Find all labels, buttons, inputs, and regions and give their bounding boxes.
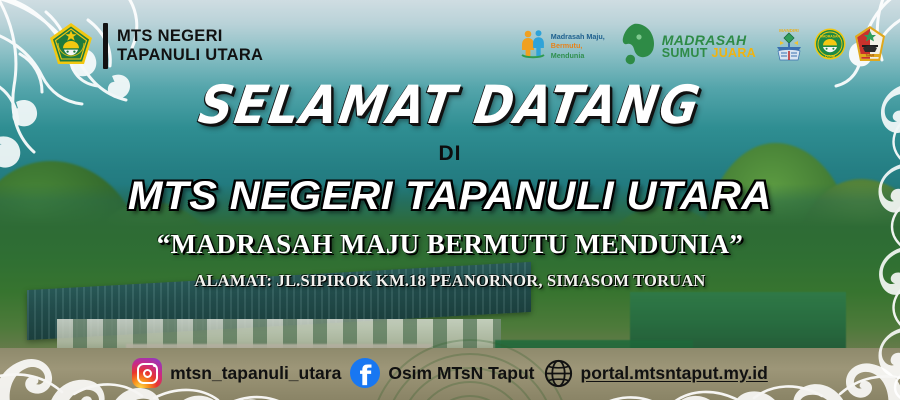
sumatera-utara-map-icon [621, 22, 657, 71]
brand-title-line1: MTS NEGERI [117, 27, 263, 46]
di-word: DI [0, 142, 900, 166]
svg-text:TAPUT: TAPUT [866, 53, 875, 57]
school-address: ALAMAT: JL.SIPIROK KM.18 PEANORNOR, SIMA… [0, 271, 900, 291]
madrasah-maju-logo: Madrasah Maju, Bermutu, Mendunia [520, 29, 605, 64]
social-media-row: mtsn_tapanuli_utara f Osim MTsN Taput po… [0, 358, 900, 388]
madrasah-maju-text: Madrasah Maju, Bermutu, Mendunia [551, 32, 605, 61]
school-motto: “MADRASAH MAJU BERMUTU MENDUNIA” [0, 229, 900, 260]
brand-lockup: MTS NEGERI TAPANULI UTARA [48, 21, 263, 72]
sumut-juara-text: MADRASAH SUMUT JUARA [662, 33, 756, 60]
sumut-juara-line2: SUMUT JUARA [662, 47, 756, 60]
svg-text:MADRASAH: MADRASAH [820, 34, 840, 38]
emblem-tapanuli-utara-shield: TAPUT [854, 25, 886, 68]
sumut-juara-juara: JUARA [711, 46, 756, 60]
brand-divider [103, 23, 108, 69]
sumut-juara-sumut: SUMUT [662, 46, 708, 60]
emblem-osim-green: MADRASAH OSIM [813, 26, 847, 67]
emblem-kemendikbud-blue: MANDIRI [772, 25, 806, 68]
social-item-website[interactable]: portal.mtsntaput.my.id [544, 359, 768, 388]
madrasah-maju-line2: Bermutu, [551, 41, 605, 51]
kemenag-pentagon-logo [48, 21, 94, 72]
welcome-headline: SELAMAT DATANG [0, 75, 900, 137]
social-item-instagram[interactable]: mtsn_tapanuli_utara [132, 358, 341, 388]
brand-title-line2: TAPANULI UTARA [117, 46, 263, 65]
welcome-banner: MTS NEGERI TAPANULI UTARA Madrasah Maju, [0, 0, 900, 400]
school-name-title: MTS NEGERI TAPANULI UTARA [0, 174, 900, 219]
svg-text:OSIM: OSIM [825, 53, 836, 58]
instagram-handle[interactable]: mtsn_tapanuli_utara [170, 363, 341, 384]
headline-block: SELAMAT DATANG DI MTS NEGERI TAPANULI UT… [0, 78, 900, 291]
social-item-facebook[interactable]: f Osim MTsN Taput [350, 358, 534, 388]
facebook-handle[interactable]: Osim MTsN Taput [388, 363, 534, 384]
partner-logos: Madrasah Maju, Bermutu, Mendunia MADRASA… [520, 22, 886, 71]
institution-emblems: MANDIRI [772, 25, 886, 68]
madrasah-maju-people-icon [520, 29, 546, 64]
instagram-icon[interactable] [132, 358, 162, 388]
brand-title: MTS NEGERI TAPANULI UTARA [117, 27, 263, 64]
sumut-juara-logo: MADRASAH SUMUT JUARA [621, 22, 756, 71]
globe-icon[interactable] [544, 359, 573, 388]
website-url[interactable]: portal.mtsntaput.my.id [581, 363, 768, 384]
facebook-icon[interactable]: f [350, 358, 380, 388]
svg-text:MANDIRI: MANDIRI [779, 28, 799, 33]
madrasah-maju-line3: Mendunia [551, 51, 605, 61]
madrasah-maju-line1: Madrasah Maju, [551, 32, 605, 42]
sumut-juara-line1: MADRASAH [662, 33, 756, 47]
